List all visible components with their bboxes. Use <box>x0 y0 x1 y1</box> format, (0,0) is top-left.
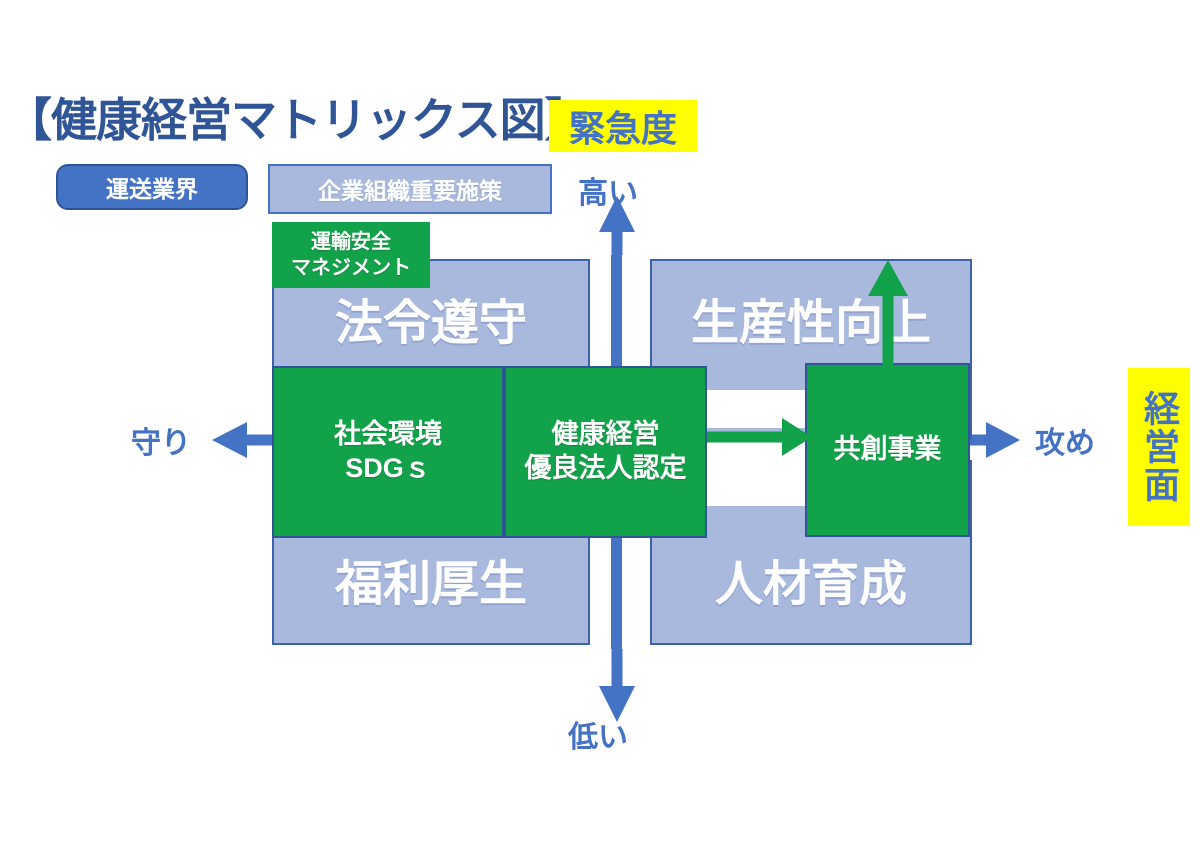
legend-badge-industry: 運送業界 <box>56 164 248 210</box>
green-box-kenko-line1: 健康経営 <box>552 418 660 452</box>
quadrant-top-right-label: 生産性向上 <box>691 283 931 353</box>
green-box-social-sdgs: 社会環境 SDGｓ <box>272 366 504 538</box>
axis-label-offense: 攻め <box>1035 418 1095 462</box>
page-title: 【健康経営マトリックス図】 <box>6 84 590 150</box>
axis-caption-management-label: 経営面 <box>1133 390 1185 504</box>
axis-caption-management: 経営面 <box>1128 368 1190 526</box>
axis-caption-urgency-label: 緊急度 <box>569 100 677 152</box>
legend-policy-label: 企業組織重要施策 <box>318 172 502 206</box>
axis-arrow-right <box>970 422 1020 458</box>
quadrant-bottom-left-label: 福利厚生 <box>335 544 527 614</box>
quadrant-top-left-label: 法令遵守 <box>335 283 527 353</box>
green-box-transport-safety: 運輸安全 マネジメント <box>272 222 430 288</box>
quadrant-bottom-right-label: 人材育成 <box>715 544 907 614</box>
green-box-kyoso-jigyo: 共創事業 <box>805 363 970 537</box>
axis-label-defense: 守り <box>131 418 191 462</box>
green-box-kenko-keiei: 健康経営 優良法人認定 <box>504 366 707 538</box>
connector-notch-upper <box>707 390 807 428</box>
green-box-social-line1: 社会環境 <box>334 418 442 452</box>
green-box-social-line2: SDGｓ <box>345 452 431 486</box>
axis-arrow-left <box>212 422 272 458</box>
matrix-diagram-canvas: 【健康経営マトリックス図】 運送業界 企業組織重要施策 緊急度 経営面 高い 低… <box>0 0 1200 849</box>
connector-notch-lower <box>707 446 807 506</box>
green-box-transport-safety-line2: マネジメント <box>291 255 411 281</box>
axis-label-high: 高い <box>578 168 638 212</box>
green-box-kyoso-label: 共創事業 <box>834 433 942 467</box>
axis-label-low: 低い <box>568 712 628 756</box>
legend-industry-label: 運送業界 <box>106 170 198 204</box>
green-box-transport-safety-line1: 運輸安全 <box>311 229 391 255</box>
green-box-kenko-line2: 優良法人認定 <box>525 452 687 486</box>
axis-caption-urgency: 緊急度 <box>549 100 697 152</box>
legend-badge-policy: 企業組織重要施策 <box>268 164 552 214</box>
